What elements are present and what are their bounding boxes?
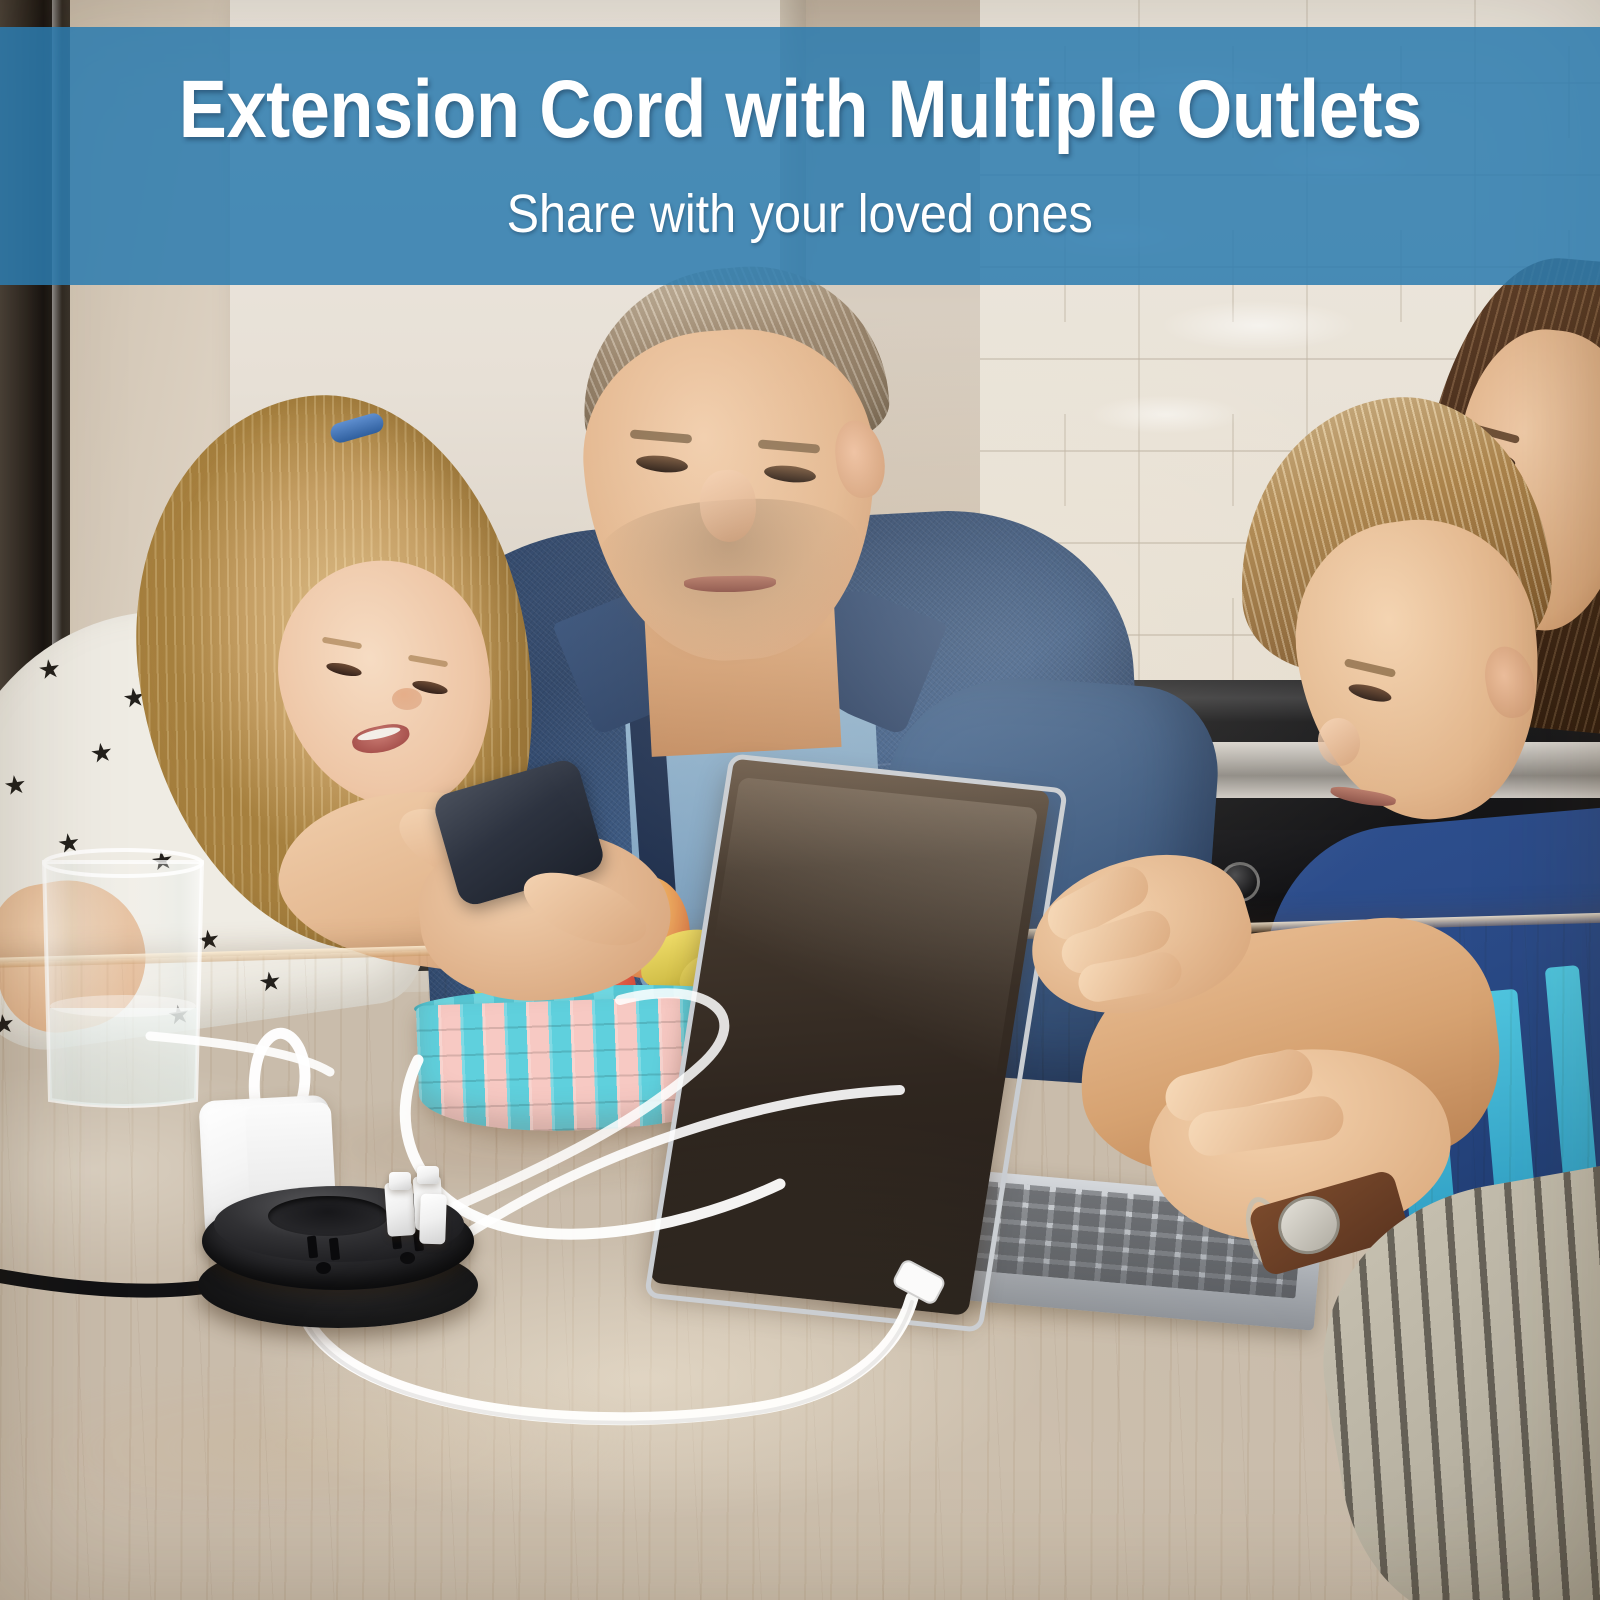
ac-outlet-ground[interactable] <box>400 1252 415 1264</box>
product-lifestyle-image: ★ ★ ★ ★ ★ ★ ★ ★ ★ ★ ★ ★ ★ ★ ★ ★ ★ ★ ★ ★ … <box>0 0 1600 1600</box>
ac-outlet-ground[interactable] <box>316 1262 331 1274</box>
power-strip-recess <box>268 1196 388 1236</box>
usb-plug[interactable] <box>419 1194 447 1245</box>
page-subtitle: Share with your loved ones <box>507 187 1093 241</box>
usb-plug-head <box>389 1172 411 1190</box>
page-title: Extension Cord with Multiple Outlets <box>178 69 1421 151</box>
usb-plug-head <box>417 1166 439 1184</box>
girl-nose <box>392 688 422 710</box>
headline-banner: Extension Cord with Multiple Outlets Sha… <box>0 27 1600 285</box>
